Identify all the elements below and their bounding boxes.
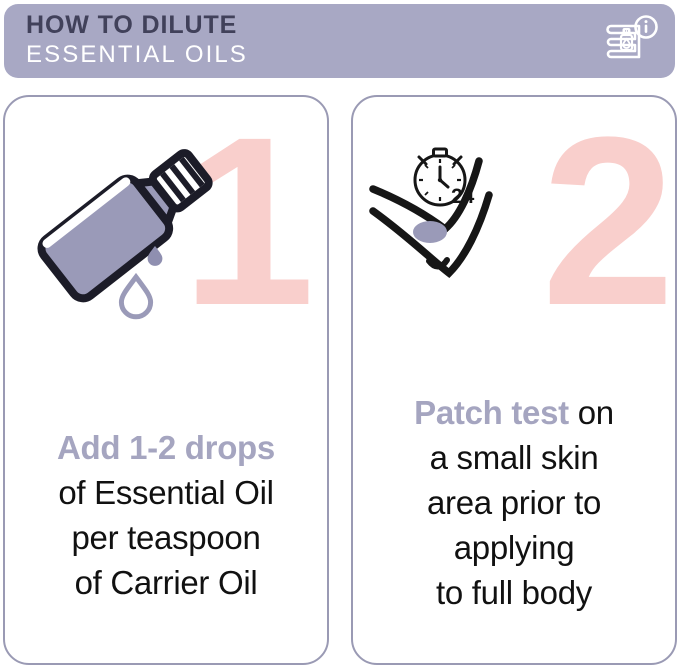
step-line-2-1: a small skin [430,439,599,476]
step-line-1-2: per teaspoon [71,519,260,556]
arm-patch-test-icon: 24 [367,125,577,305]
step-line-2-4: to full body [436,574,592,611]
step-lead-tail-2: on [569,394,614,431]
dropper-bottle-icon [23,127,238,327]
stopwatch-label: 24 [451,185,475,208]
step-lead-1: Add 1-2 drops [57,429,275,466]
step-card-1: 1 [3,95,329,665]
step-line-2-2: area prior to [427,484,601,521]
page-subtitle: ESSENTIAL OILS [26,40,248,70]
bottle-info-icon [603,12,661,70]
header-text-block: HOW TO DILUTE ESSENTIAL OILS [26,11,248,70]
step-lead-2: Patch test [414,394,569,431]
header-banner: HOW TO DILUTE ESSENTIAL OILS [4,4,675,78]
page-title: HOW TO DILUTE [26,11,248,40]
step-description-2: Patch test on a small skin area prior to… [361,390,667,615]
step-card-2: 2 [351,95,677,665]
steps-container: 1 [0,95,679,669]
step-description-1: Add 1-2 drops of Essential Oil per teasp… [13,425,319,605]
step-line-2-3: applying [454,529,575,566]
step-line-1-1: of Essential Oil [58,474,273,511]
step-line-1-3: of Carrier Oil [75,564,258,601]
